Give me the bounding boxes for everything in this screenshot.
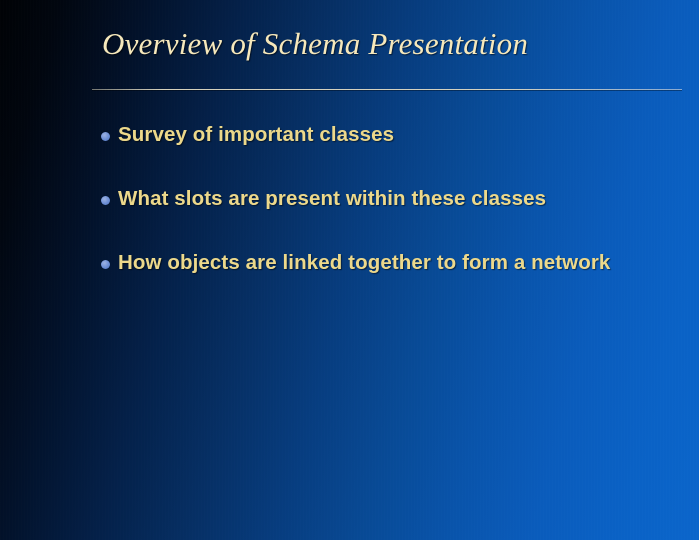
title-divider xyxy=(92,89,682,90)
bullet-point-icon xyxy=(101,260,110,269)
bullet-point-icon xyxy=(101,132,110,141)
list-item-label: Survey of important classes xyxy=(118,120,676,149)
presentation-slide: Overview of Schema Presentation Survey o… xyxy=(0,0,699,540)
list-item: How objects are linked together to form … xyxy=(96,248,676,277)
slide-title: Overview of Schema Presentation xyxy=(102,24,692,64)
bullet-list: Survey of important classes What slots a… xyxy=(96,120,676,277)
list-item: What slots are present within these clas… xyxy=(96,184,676,213)
bullet-point-icon xyxy=(101,196,110,205)
list-item-label: How objects are linked together to form … xyxy=(118,248,676,277)
list-item: Survey of important classes xyxy=(96,120,676,149)
list-item-label: What slots are present within these clas… xyxy=(118,184,676,213)
